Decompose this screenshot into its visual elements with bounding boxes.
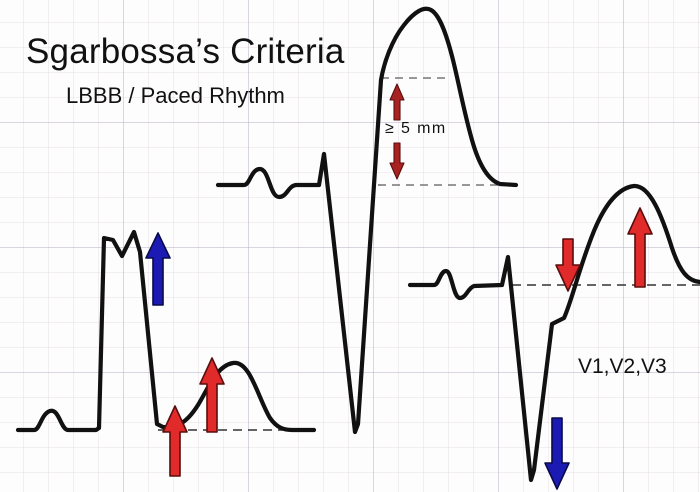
measure-down-arrow [390, 143, 404, 179]
measure-up-arrow [390, 84, 404, 120]
page-subtitle: LBBB / Paced Rhythm [66, 83, 285, 109]
blue-up-arrow-concordant-qrs [146, 233, 170, 305]
red-up-arrow-st-elevation-1 [163, 406, 187, 476]
ecg-complex-1-group [18, 232, 314, 430]
page-title: Sgarbossa’s Criteria [26, 32, 345, 72]
ecg-complex-2-group [218, 9, 516, 432]
measurement-label: ≥ 5 mm [385, 120, 447, 138]
ecg-waveform-canvas [0, 0, 700, 492]
red-up-arrow-t-wave-3 [628, 208, 652, 287]
ecg-diagram-page: Sgarbossa’s Criteria LBBB / Paced Rhythm… [0, 0, 700, 492]
complex-1-trace [18, 232, 314, 430]
blue-down-arrow-discordant-qrs [545, 418, 569, 489]
complex-2-trace [218, 9, 516, 432]
leads-label: V1,V2,V3 [578, 355, 667, 379]
